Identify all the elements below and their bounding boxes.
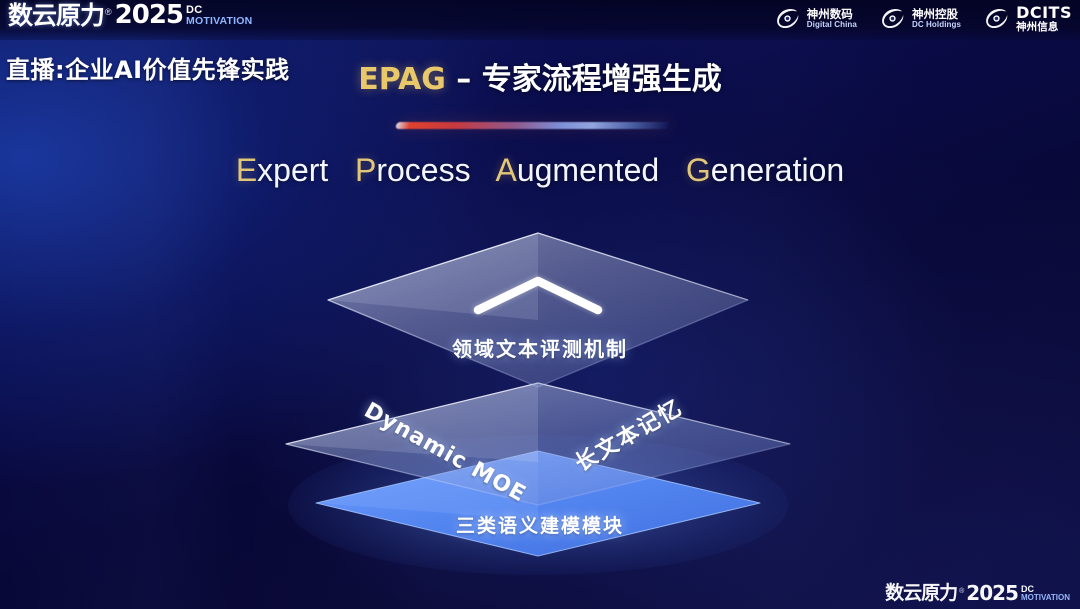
layer-middle-label-left: Dynamic MOE — [360, 398, 530, 508]
swirl-logo-icon — [983, 5, 1010, 32]
subtitle-space — [668, 152, 677, 188]
corp-name-en: DC Holdings — [912, 21, 961, 30]
page-subtitle: Expert Process Augmented Generation — [0, 152, 1080, 189]
subtitle-rest: rocess — [376, 152, 470, 188]
watermark-dcmotivation: DC MOTIVATION — [1021, 585, 1070, 602]
subtitle-rest: eneration — [711, 152, 844, 188]
subtitle-rest: ugmented — [517, 152, 659, 188]
brand-logo-year: 2025 — [115, 2, 183, 28]
corp-name-cn: 神州数码 — [807, 8, 857, 21]
page-title-separator: – — [446, 62, 482, 97]
subtitle-cap: A — [495, 152, 516, 188]
brand-logo-dc: DC — [186, 5, 252, 16]
subtitle-word-expert: Expert — [236, 152, 328, 188]
corporate-logo-text: DCITS 神州信息 — [1016, 4, 1072, 34]
gradient-divider — [395, 122, 669, 129]
watermark-logo: 数云原力 ® 2025 DC MOTIVATION — [885, 583, 1070, 603]
corporate-logo-digital-china: 神州数码 Digital China — [774, 5, 857, 32]
watermark-chinese: 数云原力 — [885, 584, 957, 603]
subtitle-cap: P — [355, 152, 376, 188]
watermark-motivation: MOTIVATION — [1021, 594, 1070, 602]
layer-middle-label-right: 长文本记忆 — [568, 390, 688, 478]
layer-middle — [286, 383, 790, 505]
page-title-acronym: EPAG — [358, 62, 446, 97]
swirl-logo-icon — [879, 5, 906, 32]
corporate-logo-dc-holdings: 神州控股 DC Holdings — [879, 5, 961, 32]
corporate-logo-text: 神州数码 Digital China — [807, 8, 857, 30]
subtitle-space — [479, 152, 488, 188]
corporate-logo-group: 神州数码 Digital China 神州控股 DC Holdings — [774, 4, 1072, 34]
subtitle-word-generation: Generation — [686, 152, 844, 188]
swirl-logo-icon — [774, 5, 801, 32]
brand-logo-motivation: MOTIVATION — [186, 16, 252, 27]
slide-canvas: 数云原力 ® 2025 DC MOTIVATION 直播:企业AI价值先锋实践 … — [0, 0, 1080, 609]
page-title-chinese: 专家流程增强生成 — [482, 62, 722, 97]
layer-bottom-label: 三类语义建模模块 — [0, 511, 1080, 538]
subtitle-space — [337, 152, 346, 188]
subtitle-word-augmented: Augmented — [495, 152, 659, 188]
brand-logo: 数云原力 ® 2025 DC MOTIVATION — [8, 2, 252, 28]
corp-name-cn: DCITS — [1016, 4, 1072, 22]
subtitle-cap: G — [686, 152, 711, 188]
subtitle-word-process: Process — [355, 152, 471, 188]
subtitle-rest: xpert — [257, 152, 328, 188]
corp-name-cn: 神州控股 — [912, 8, 961, 21]
chevron-up-icon — [478, 281, 598, 310]
corp-name-en: 神州信息 — [1016, 22, 1072, 34]
stack-ambient-glow — [288, 435, 788, 575]
corp-name-en: Digital China — [807, 21, 857, 30]
layer-top-label: 领域文本评测机制 — [0, 333, 1080, 362]
corporate-logo-text: 神州控股 DC Holdings — [912, 8, 961, 30]
layer-top — [328, 233, 748, 387]
subtitle-cap: E — [236, 152, 257, 188]
watermark-year: 2025 — [966, 583, 1018, 603]
brand-logo-chinese: 数云原力 — [8, 3, 104, 28]
corporate-logo-dcits: DCITS 神州信息 — [983, 4, 1072, 34]
layer-bottom — [316, 451, 760, 556]
brand-logo-registered: ® — [105, 8, 112, 17]
live-session-title: 直播:企业AI价值先锋实践 — [6, 50, 290, 85]
watermark-registered: ® — [959, 588, 964, 595]
brand-logo-dcmotivation: DC MOTIVATION — [186, 5, 252, 27]
